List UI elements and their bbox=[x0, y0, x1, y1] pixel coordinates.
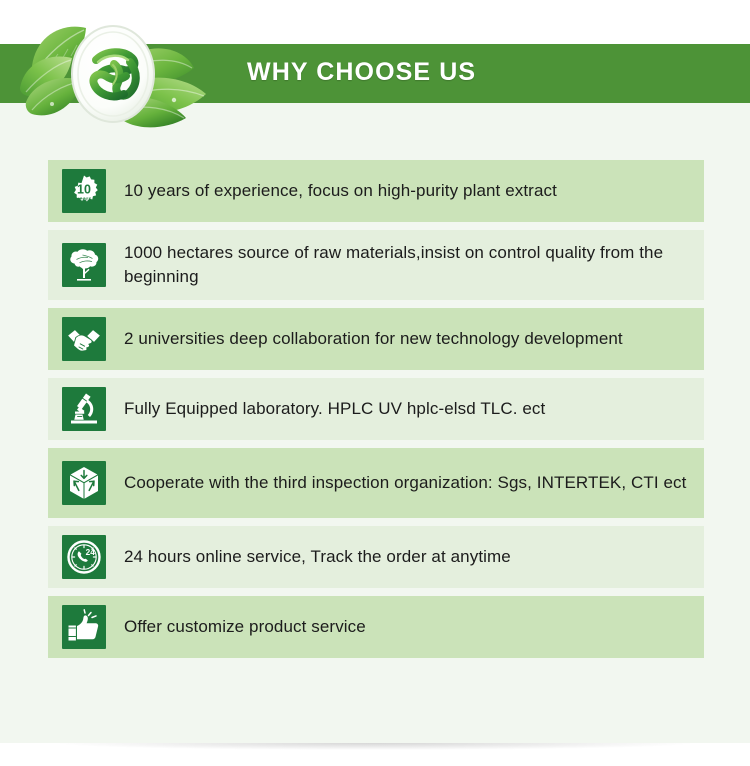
svg-text:years: years bbox=[76, 197, 92, 203]
feature-row: 1000 hectares source of raw materials,in… bbox=[48, 230, 704, 300]
feature-text: 1000 hectares source of raw materials,in… bbox=[124, 241, 692, 289]
feature-row: Fully Equipped laboratory. HPLC UV hplc-… bbox=[48, 378, 704, 440]
feature-text: 24 hours online service, Track the order… bbox=[124, 545, 692, 569]
feature-list: 10 years 10 years of experience, focus o… bbox=[48, 160, 704, 666]
thumbs-up-icon bbox=[62, 605, 106, 649]
svg-text:10: 10 bbox=[77, 183, 91, 197]
page-title: WHY CHOOSE US bbox=[247, 58, 476, 87]
feature-row: Cooperate with the third inspection orga… bbox=[48, 448, 704, 518]
24-hours-phone-clock-icon: 24 bbox=[62, 535, 106, 579]
ten-years-badge-icon: 10 years bbox=[62, 169, 106, 213]
feature-text: Offer customize product service bbox=[124, 615, 692, 639]
package-cube-icon bbox=[62, 461, 106, 505]
svg-text:24: 24 bbox=[86, 548, 96, 557]
feature-row: Offer customize product service bbox=[48, 596, 704, 658]
feature-row: 10 years 10 years of experience, focus o… bbox=[48, 160, 704, 222]
feature-text: Cooperate with the third inspection orga… bbox=[124, 471, 692, 495]
bottom-shadow bbox=[0, 743, 750, 766]
feature-row: 2 universities deep collaboration for ne… bbox=[48, 308, 704, 370]
feature-text: Fully Equipped laboratory. HPLC UV hplc-… bbox=[124, 397, 692, 421]
feature-text: 2 universities deep collaboration for ne… bbox=[124, 327, 692, 351]
company-leaf-logo bbox=[14, 14, 224, 134]
feature-text: 10 years of experience, focus on high-pu… bbox=[124, 179, 692, 203]
tree-icon bbox=[62, 243, 106, 287]
feature-row: 24 24 hours online service, Track the or… bbox=[48, 526, 704, 588]
handshake-icon bbox=[62, 317, 106, 361]
why-choose-us-panel: WHY CHOOSE US 10 years 10 years of exper… bbox=[0, 0, 750, 766]
microscope-icon bbox=[62, 387, 106, 431]
